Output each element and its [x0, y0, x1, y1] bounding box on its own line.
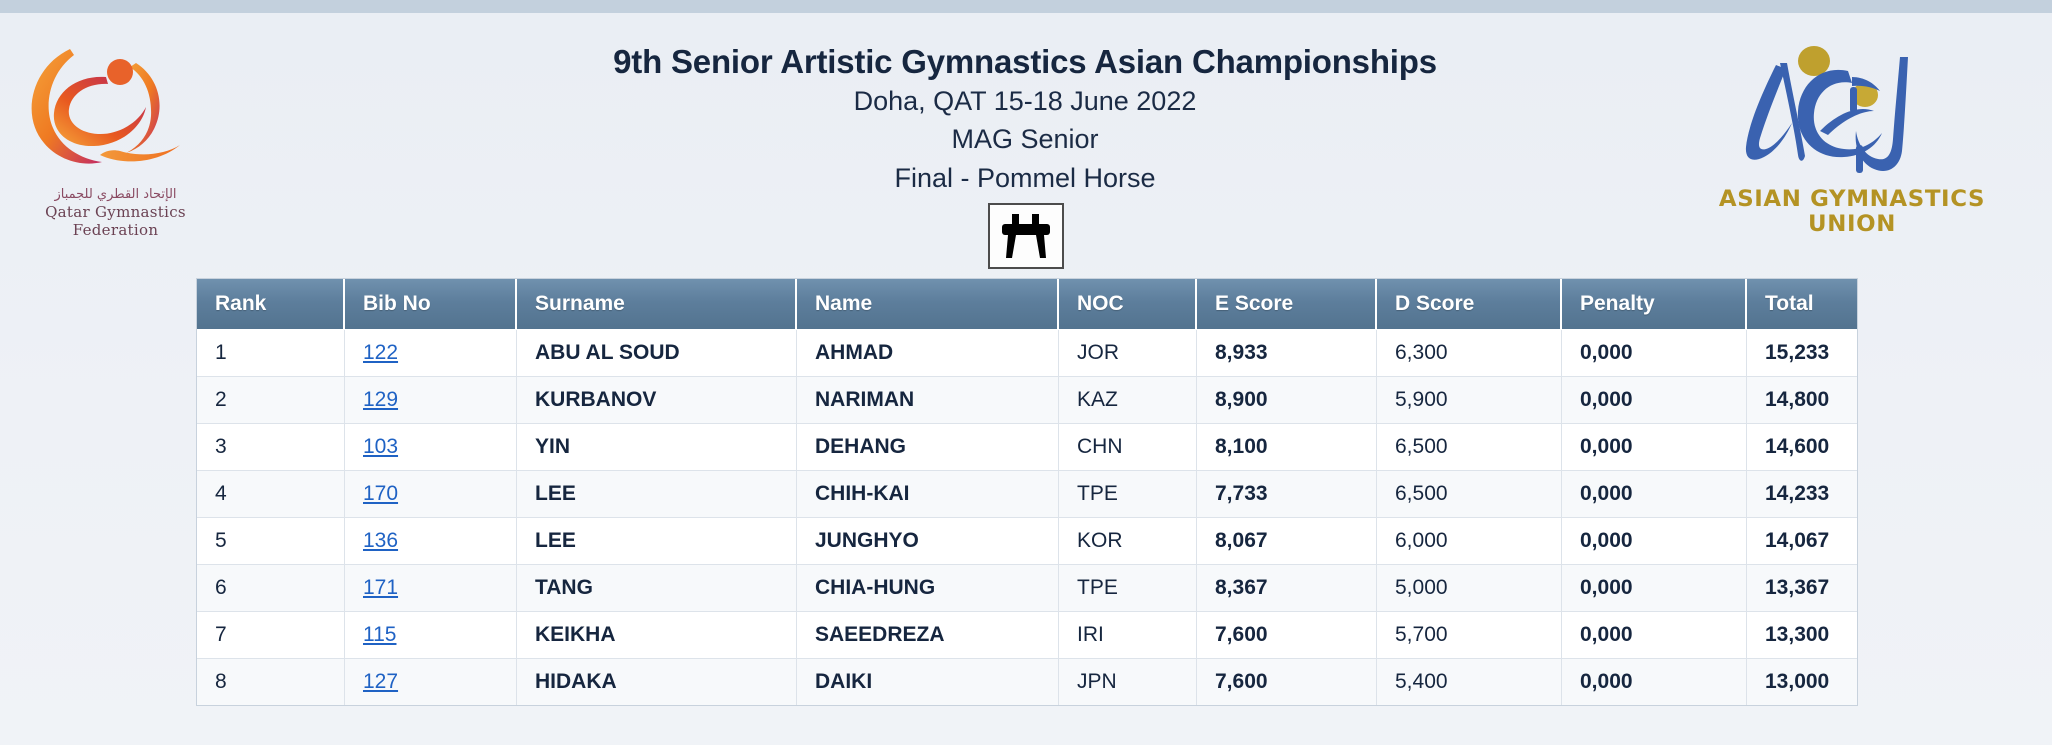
- cell-penalty: 0,000: [1562, 659, 1747, 705]
- cell-d-score: 6,500: [1377, 471, 1562, 518]
- top-browser-bar: [0, 0, 2052, 14]
- cell-name: DAIKI: [797, 659, 1059, 705]
- cell-total: 13,000: [1747, 659, 1857, 705]
- bib-number-link[interactable]: 122: [363, 341, 398, 364]
- table-row: 4170LEECHIH-KAITPE7,7336,5000,00014,233: [197, 471, 1857, 518]
- cell-bib-no[interactable]: 136: [345, 518, 517, 565]
- cell-total: 14,800: [1747, 377, 1857, 424]
- column-header-surname[interactable]: Surname: [517, 279, 797, 330]
- results-table-body: 1122ABU AL SOUDAHMADJOR8,9336,3000,00015…: [197, 330, 1857, 705]
- cell-name: DEHANG: [797, 424, 1059, 471]
- cell-name: CHIH-KAI: [797, 471, 1059, 518]
- qatar-gymnastics-federation-logo: الإتحاد القطري للجمباز Qatar Gymnastics …: [8, 27, 223, 237]
- cell-name: NARIMAN: [797, 377, 1059, 424]
- cell-penalty: 0,000: [1562, 377, 1747, 424]
- cell-total: 14,600: [1747, 424, 1857, 471]
- cell-e-score: 8,900: [1197, 377, 1377, 424]
- cell-bib-no[interactable]: 171: [345, 565, 517, 612]
- qgf-english-name: Qatar Gymnastics Federation: [8, 203, 223, 239]
- results-table-container: Rank Bib No Surname Name NOC E Score D S…: [196, 278, 1856, 706]
- cell-noc: IRI: [1059, 612, 1197, 659]
- cell-surname: ABU AL SOUD: [517, 330, 797, 377]
- results-table-head: Rank Bib No Surname Name NOC E Score D S…: [197, 279, 1857, 330]
- cell-e-score: 7,600: [1197, 659, 1377, 705]
- bib-number-link[interactable]: 103: [363, 435, 398, 458]
- agu-emblem-icon: [1702, 35, 2002, 187]
- cell-d-score: 5,000: [1377, 565, 1562, 612]
- cell-noc: KOR: [1059, 518, 1197, 565]
- cell-noc: CHN: [1059, 424, 1197, 471]
- column-header-bib[interactable]: Bib No: [345, 279, 517, 330]
- column-header-noc[interactable]: NOC: [1059, 279, 1197, 330]
- cell-total: 15,233: [1747, 330, 1857, 377]
- cell-penalty: 0,000: [1562, 565, 1747, 612]
- page-header: الإتحاد القطري للجمباز Qatar Gymnastics …: [0, 13, 2052, 271]
- cell-rank: 4: [197, 471, 345, 518]
- venue-dates: Doha, QAT 15-18 June 2022: [430, 82, 1620, 120]
- table-row: 1122ABU AL SOUDAHMADJOR8,9336,3000,00015…: [197, 330, 1857, 377]
- cell-surname: LEE: [517, 471, 797, 518]
- cell-d-score: 6,300: [1377, 330, 1562, 377]
- cell-total: 14,233: [1747, 471, 1857, 518]
- cell-penalty: 0,000: [1562, 518, 1747, 565]
- cell-total: 13,367: [1747, 565, 1857, 612]
- cell-penalty: 0,000: [1562, 330, 1747, 377]
- bib-number-link[interactable]: 127: [363, 670, 398, 693]
- cell-bib-no[interactable]: 170: [345, 471, 517, 518]
- cell-bib-no[interactable]: 103: [345, 424, 517, 471]
- cell-d-score: 6,500: [1377, 424, 1562, 471]
- qgf-arabic-name: الإتحاد القطري للجمباز: [8, 187, 223, 203]
- agu-wordmark: ASIAN GYMNASTICS UNION: [1696, 187, 2008, 237]
- cell-surname: TANG: [517, 565, 797, 612]
- cell-d-score: 5,400: [1377, 659, 1562, 705]
- cell-e-score: 8,933: [1197, 330, 1377, 377]
- cell-penalty: 0,000: [1562, 612, 1747, 659]
- cell-e-score: 7,600: [1197, 612, 1377, 659]
- bib-number-link[interactable]: 171: [363, 576, 398, 599]
- cell-name: JUNGHYO: [797, 518, 1059, 565]
- pommel-horse-glyph: [999, 214, 1053, 258]
- bib-number-link[interactable]: 136: [363, 529, 398, 552]
- results-page: الإتحاد القطري للجمباز Qatar Gymnastics …: [0, 13, 2052, 745]
- cell-penalty: 0,000: [1562, 471, 1747, 518]
- cell-name: SAEEDREZA: [797, 612, 1059, 659]
- cell-surname: KEIKHA: [517, 612, 797, 659]
- cell-surname: HIDAKA: [517, 659, 797, 705]
- cell-d-score: 6,000: [1377, 518, 1562, 565]
- cell-name: CHIA-HUNG: [797, 565, 1059, 612]
- column-header-escore[interactable]: E Score: [1197, 279, 1377, 330]
- table-row: 5136LEEJUNGHYOKOR8,0676,0000,00014,067: [197, 518, 1857, 565]
- qgf-emblem-icon: [8, 27, 223, 187]
- cell-bib-no[interactable]: 122: [345, 330, 517, 377]
- table-row: 7115KEIKHASAEEDREZAIRI7,6005,7000,00013,…: [197, 612, 1857, 659]
- cell-total: 13,300: [1747, 612, 1857, 659]
- cell-total: 14,067: [1747, 518, 1857, 565]
- cell-rank: 6: [197, 565, 345, 612]
- cell-d-score: 5,700: [1377, 612, 1562, 659]
- cell-rank: 1: [197, 330, 345, 377]
- cell-surname: LEE: [517, 518, 797, 565]
- cell-noc: TPE: [1059, 565, 1197, 612]
- column-header-dscore[interactable]: D Score: [1377, 279, 1562, 330]
- round-apparatus: Final - Pommel Horse: [430, 159, 1620, 197]
- cell-rank: 3: [197, 424, 345, 471]
- table-row: 3103YINDEHANGCHN8,1006,5000,00014,600: [197, 424, 1857, 471]
- cell-name: AHMAD: [797, 330, 1059, 377]
- cell-d-score: 5,900: [1377, 377, 1562, 424]
- cell-rank: 8: [197, 659, 345, 705]
- cell-noc: KAZ: [1059, 377, 1197, 424]
- cell-bib-no[interactable]: 115: [345, 612, 517, 659]
- asian-gymnastics-union-logo: ASIAN GYMNASTICS UNION: [1702, 35, 2002, 235]
- cell-e-score: 7,733: [1197, 471, 1377, 518]
- table-row: 6171TANGCHIA-HUNGTPE8,3675,0000,00013,36…: [197, 565, 1857, 612]
- cell-bib-no[interactable]: 129: [345, 377, 517, 424]
- title-block: 9th Senior Artistic Gymnastics Asian Cha…: [430, 43, 1620, 197]
- cell-surname: YIN: [517, 424, 797, 471]
- event-title: 9th Senior Artistic Gymnastics Asian Cha…: [430, 43, 1620, 82]
- cell-rank: 5: [197, 518, 345, 565]
- cell-rank: 7: [197, 612, 345, 659]
- category: MAG Senior: [430, 120, 1620, 158]
- column-header-rank[interactable]: Rank: [197, 279, 345, 330]
- cell-e-score: 8,067: [1197, 518, 1377, 565]
- table-row: 2129KURBANOVNARIMANKAZ8,9005,9000,00014,…: [197, 377, 1857, 424]
- cell-bib-no[interactable]: 127: [345, 659, 517, 705]
- cell-penalty: 0,000: [1562, 424, 1747, 471]
- cell-surname: KURBANOV: [517, 377, 797, 424]
- cell-rank: 2: [197, 377, 345, 424]
- cell-noc: JPN: [1059, 659, 1197, 705]
- bib-number-link[interactable]: 170: [363, 482, 398, 505]
- cell-e-score: 8,100: [1197, 424, 1377, 471]
- table-header-row: Rank Bib No Surname Name NOC E Score D S…: [197, 279, 1857, 330]
- column-header-total[interactable]: Total: [1747, 279, 1857, 330]
- column-header-name[interactable]: Name: [797, 279, 1059, 330]
- cell-noc: TPE: [1059, 471, 1197, 518]
- bib-number-link[interactable]: 129: [363, 388, 398, 411]
- pommel-horse-icon: [988, 203, 1064, 269]
- column-header-penalty[interactable]: Penalty: [1562, 279, 1747, 330]
- cell-noc: JOR: [1059, 330, 1197, 377]
- bib-number-link[interactable]: 115: [363, 623, 396, 646]
- results-table: Rank Bib No Surname Name NOC E Score D S…: [196, 278, 1858, 706]
- cell-e-score: 8,367: [1197, 565, 1377, 612]
- table-row: 8127HIDAKADAIKIJPN7,6005,4000,00013,000: [197, 659, 1857, 705]
